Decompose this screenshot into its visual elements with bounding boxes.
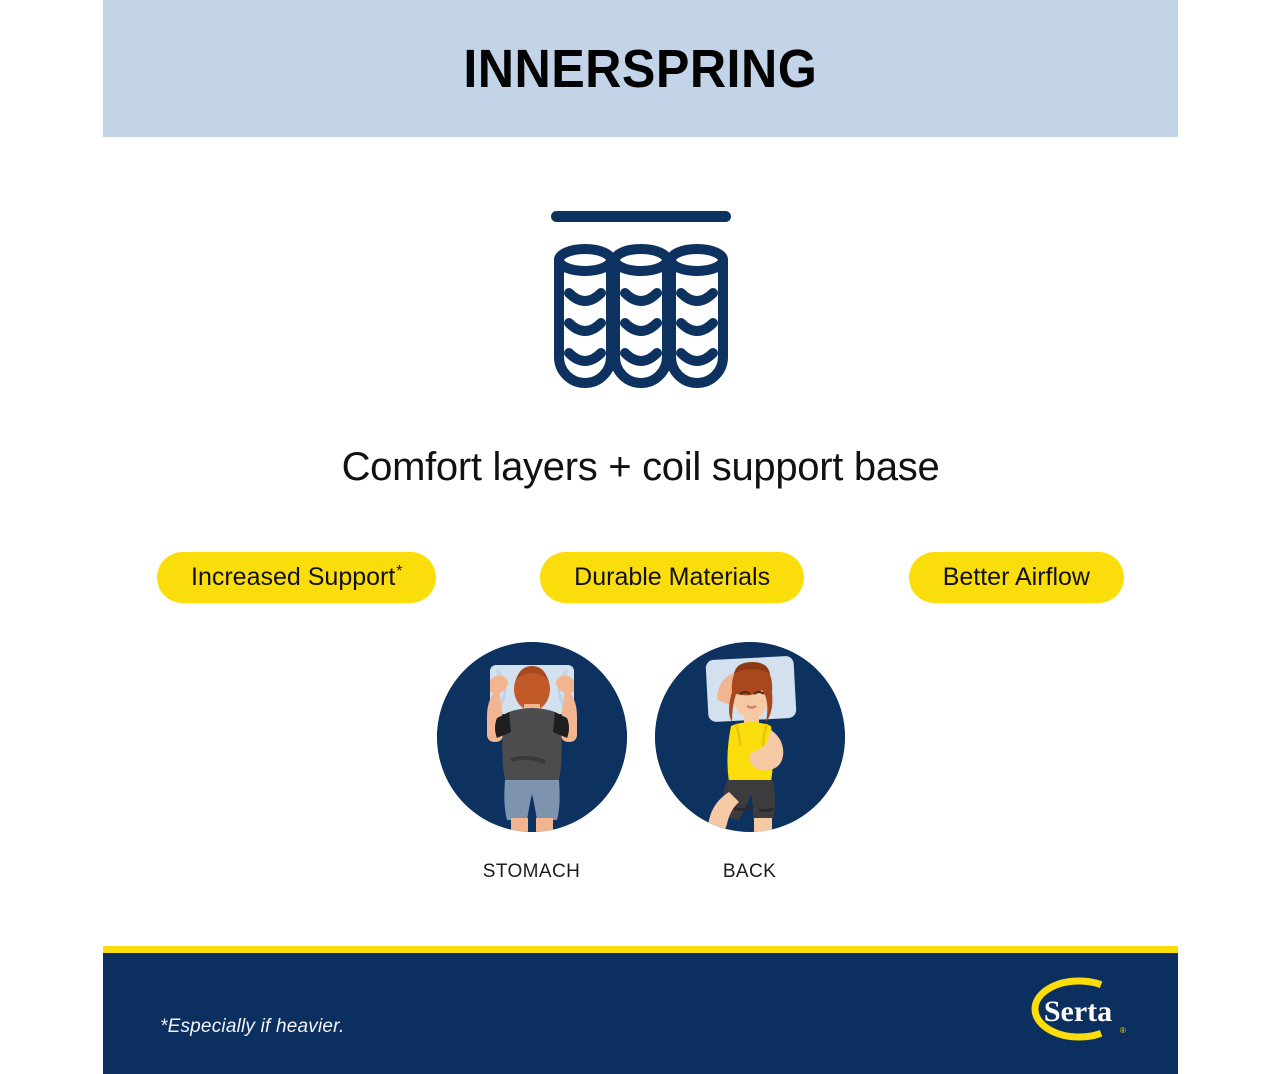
coil-icon-container — [103, 205, 1178, 397]
sleep-position-row: STOMACH — [103, 642, 1178, 883]
feature-pill-label: Durable Materials — [574, 563, 770, 592]
back-sleeper-circle — [655, 642, 845, 832]
page-title: INNERSPRING — [464, 38, 818, 100]
footer-bar: *Especially if heavier. Serta ® — [103, 946, 1178, 1074]
feature-pill-better-airflow[interactable]: Better Airflow — [909, 552, 1124, 603]
content-card: INNERSPRING — [103, 0, 1178, 1074]
sleep-position-back[interactable]: BACK — [655, 642, 845, 883]
sleep-position-label: BACK — [655, 861, 845, 883]
header-banner: INNERSPRING — [103, 0, 1178, 137]
infographic-page: INNERSPRING — [0, 0, 1280, 1074]
sleep-position-stomach[interactable]: STOMACH — [437, 642, 627, 883]
sleep-position-label: STOMACH — [437, 861, 627, 883]
feature-pill-label: Increased Support — [191, 563, 395, 592]
serta-logo[interactable]: Serta ® — [1031, 977, 1131, 1044]
feature-pill-row: Increased Support* Durable Materials Bet… — [157, 552, 1124, 603]
registered-trademark-mark: ® — [1120, 1026, 1126, 1035]
coil-springs-icon — [541, 205, 741, 397]
footnote-text: *Especially if heavier. — [160, 1016, 344, 1038]
serta-wordmark: Serta — [1044, 995, 1112, 1028]
headline-text: Comfort layers + coil support base — [103, 445, 1178, 490]
feature-pill-label: Better Airflow — [943, 563, 1090, 592]
feature-pill-durable-materials[interactable]: Durable Materials — [540, 552, 804, 603]
body-section: Comfort layers + coil support base Incre… — [103, 137, 1178, 946]
feature-pill-increased-support[interactable]: Increased Support* — [157, 552, 436, 603]
back-sleeper-illustration — [655, 642, 845, 832]
stomach-sleeper-circle — [437, 642, 627, 832]
stomach-sleeper-illustration — [437, 642, 627, 832]
